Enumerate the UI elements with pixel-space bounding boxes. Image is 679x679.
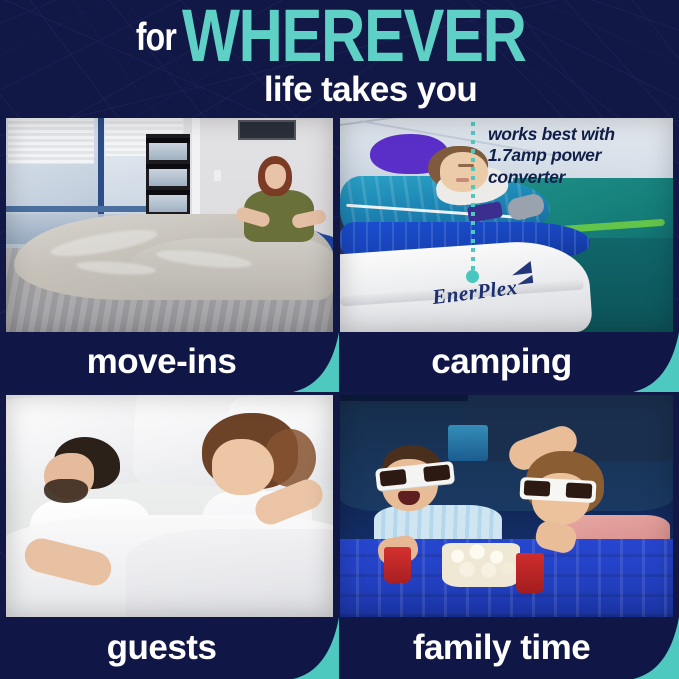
tile-family-time — [340, 395, 673, 617]
sleeper-mouth — [456, 178, 469, 182]
callout-line-2: 1.7amp power — [488, 145, 668, 166]
tile-guests — [6, 395, 333, 617]
callout-line-3: converter — [488, 167, 668, 188]
product-feature-poster: forWHEREVER life takes you — [0, 0, 679, 679]
light-switch — [214, 170, 221, 181]
deflated-mattress-fold — [126, 238, 333, 300]
callout-line-1: works best with — [488, 124, 668, 145]
sleeper-face — [440, 152, 488, 192]
headline-prefix: for — [136, 18, 176, 57]
girl-3d-glasses-icon — [519, 477, 596, 503]
tile-camping: works best with 1.7amp power converter E… — [340, 118, 673, 332]
teal-accent-shape — [633, 617, 679, 679]
teal-accent-shape — [293, 617, 339, 679]
photo-family-time — [340, 395, 673, 617]
label-band-guests: guests — [0, 617, 339, 679]
red-cup — [516, 553, 544, 593]
man-beard — [44, 479, 88, 503]
feature-grid: works best with 1.7amp power converter E… — [0, 118, 679, 679]
headline-subtitle: life takes you — [0, 72, 679, 107]
photo-camping: works best with 1.7amp power converter E… — [340, 118, 673, 332]
tile-label-move-ins: move-ins — [0, 332, 339, 392]
photo-guests — [6, 395, 333, 617]
power-converter-callout: works best with 1.7amp power converter — [488, 124, 668, 188]
popcorn-bowl — [442, 543, 520, 587]
tile-move-ins — [6, 118, 333, 332]
duvet-fold — [126, 529, 333, 617]
callout-dotted-line — [471, 122, 475, 274]
tile-label-camping: camping — [340, 332, 679, 392]
window-blind-left — [8, 118, 94, 164]
label-band-move-ins: move-ins — [0, 332, 339, 392]
wall-picture-frame — [238, 120, 296, 140]
teal-accent-shape — [633, 332, 679, 392]
tile-label-family-time: family time — [340, 617, 679, 679]
tile-label-guests: guests — [0, 617, 339, 679]
teal-accent-shape — [293, 332, 339, 392]
tv-glow — [448, 425, 488, 461]
label-band-family-time: family time — [340, 617, 679, 679]
woman-face — [212, 439, 274, 495]
label-band-camping: camping — [340, 332, 679, 392]
photo-move-ins — [6, 118, 333, 332]
headline-main: WHEREVER — [182, 0, 526, 72]
poster-header: forWHEREVER life takes you — [0, 0, 679, 118]
brand-wing-icon — [509, 259, 538, 288]
headline-row: forWHEREVER — [0, 6, 679, 72]
person-face — [265, 164, 286, 189]
red-cup — [384, 547, 411, 583]
